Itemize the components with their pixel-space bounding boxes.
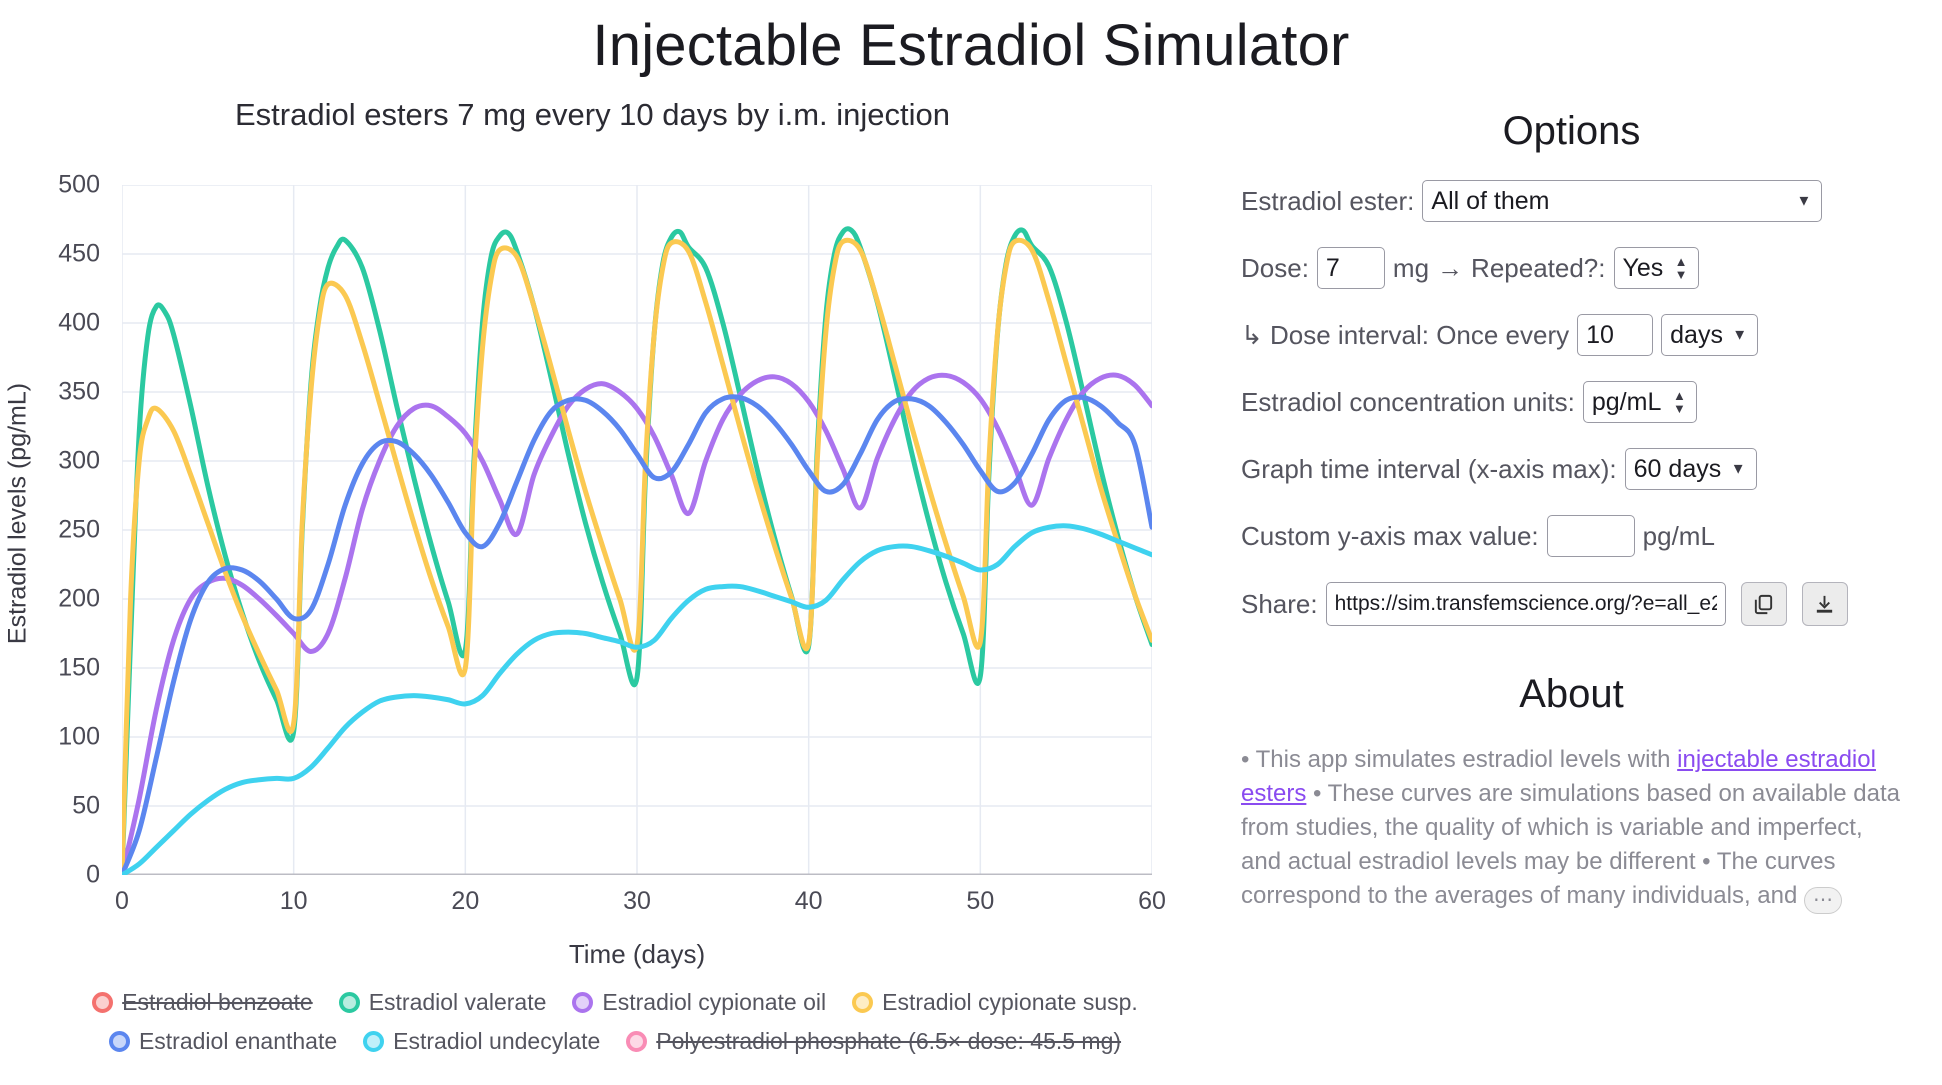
- dose-unit: mg: [1393, 253, 1429, 284]
- interval-label: ↳ Dose interval: Once every: [1241, 320, 1569, 351]
- plot-area: [122, 185, 1152, 875]
- y-tick-label: 500: [0, 171, 110, 200]
- legend-color-swatch: [92, 992, 113, 1013]
- units-select-wrap: pg/mL ▲▼: [1583, 381, 1697, 423]
- concentration-units-select[interactable]: pg/mL: [1583, 381, 1697, 423]
- about-heading: About: [1241, 672, 1902, 717]
- x-tick-label: 50: [966, 887, 994, 916]
- legend-item[interactable]: Estradiol cypionate susp.: [852, 989, 1138, 1016]
- share-label: Share:: [1241, 589, 1318, 620]
- x-tick-label: 20: [451, 887, 479, 916]
- dose-label: Dose:: [1241, 253, 1309, 284]
- x-tick-label: 40: [795, 887, 823, 916]
- custom-ymax-input[interactable]: [1547, 515, 1635, 557]
- legend-item-label: Estradiol valerate: [369, 989, 547, 1016]
- options-heading: Options: [1241, 109, 1902, 154]
- repeated-label: Repeated?:: [1471, 253, 1605, 284]
- y-tick-label: 50: [0, 792, 110, 821]
- y-tick-label: 450: [0, 240, 110, 269]
- y-tick-label: 200: [0, 585, 110, 614]
- legend-color-swatch: [852, 992, 873, 1013]
- y-tick-label: 100: [0, 723, 110, 752]
- legend-item-label: Polyestradiol phosphate (6.5× dose: 45.5…: [656, 1028, 1121, 1055]
- ester-label: Estradiol ester:: [1241, 186, 1414, 217]
- option-row-share: Share:: [1241, 582, 1902, 626]
- legend-color-swatch: [626, 1031, 647, 1052]
- ymax-unit: pg/mL: [1643, 521, 1715, 552]
- option-row-units: Estradiol concentration units: pg/mL ▲▼: [1241, 381, 1902, 423]
- options-panel: Options Estradiol ester: All of them ▼ D…: [1215, 79, 1942, 914]
- legend-item-label: Estradiol enanthate: [139, 1028, 337, 1055]
- legend-item[interactable]: Estradiol undecylate: [363, 1028, 600, 1055]
- legend-color-swatch: [339, 992, 360, 1013]
- legend-item[interactable]: Estradiol valerate: [339, 989, 547, 1016]
- legend-color-swatch: [572, 992, 593, 1013]
- main-layout: Estradiol esters 7 mg every 10 days by i…: [0, 79, 1942, 1064]
- legend-item[interactable]: Estradiol cypionate oil: [572, 989, 826, 1016]
- x-tick-label: 10: [280, 887, 308, 916]
- legend-item-label: Estradiol benzoate: [122, 989, 313, 1016]
- option-row-ester: Estradiol ester: All of them ▼: [1241, 180, 1902, 222]
- y-tick-label: 350: [0, 378, 110, 407]
- y-tick-label: 300: [0, 447, 110, 476]
- x-axis-label: Time (days): [122, 939, 1152, 970]
- interval-unit-select-wrap: days ▼: [1661, 314, 1758, 356]
- option-row-interval: ↳ Dose interval: Once every days ▼: [1241, 314, 1902, 356]
- y-tick-label: 250: [0, 516, 110, 545]
- plot-wrapper: Estradiol levels (pg/mL) 050100150200250…: [0, 139, 1180, 839]
- time-interval-label: Graph time interval (x-axis max):: [1241, 454, 1617, 485]
- copy-icon[interactable]: [1741, 582, 1787, 626]
- option-row-ymax: Custom y-axis max value: pg/mL: [1241, 515, 1902, 557]
- legend-item-label: Estradiol cypionate susp.: [882, 989, 1138, 1016]
- x-tick-label: 30: [623, 887, 651, 916]
- share-url-input[interactable]: [1326, 582, 1726, 626]
- dose-interval-unit-select[interactable]: days: [1661, 314, 1758, 356]
- legend-item[interactable]: Polyestradiol phosphate (6.5× dose: 45.5…: [626, 1028, 1121, 1055]
- chart-svg: [122, 185, 1152, 875]
- legend-item[interactable]: Estradiol enanthate: [109, 1028, 337, 1055]
- y-tick-label: 150: [0, 654, 110, 683]
- x-tick-label: 60: [1138, 887, 1166, 916]
- ymax-label: Custom y-axis max value:: [1241, 521, 1539, 552]
- estradiol-ester-select[interactable]: All of them: [1422, 180, 1822, 222]
- page-title: Injectable Estradiol Simulator: [0, 12, 1942, 79]
- chart-legend: Estradiol benzoateEstradiol valerateEstr…: [60, 989, 1170, 1067]
- legend-item[interactable]: Estradiol benzoate: [92, 989, 313, 1016]
- about-text-part1: • This app simulates estradiol levels wi…: [1241, 746, 1677, 773]
- legend-row: Estradiol enanthateEstradiol undecylateP…: [60, 1028, 1170, 1055]
- dose-input[interactable]: [1317, 247, 1385, 289]
- download-icon[interactable]: [1802, 582, 1848, 626]
- y-tick-label: 400: [0, 309, 110, 338]
- chart-title: Estradiol esters 7 mg every 10 days by i…: [0, 97, 1215, 133]
- arrow-icon: →: [1437, 253, 1463, 284]
- chart-panel: Estradiol esters 7 mg every 10 days by i…: [0, 79, 1215, 839]
- dose-interval-input[interactable]: [1577, 314, 1653, 356]
- graph-time-interval-select[interactable]: 60 days: [1625, 448, 1757, 490]
- legend-item-label: Estradiol cypionate oil: [602, 989, 826, 1016]
- x-tick-label: 0: [115, 887, 129, 916]
- legend-color-swatch: [109, 1031, 130, 1052]
- about-text: • This app simulates estradiol levels wi…: [1241, 743, 1902, 914]
- about-text-part2: • These curves are simulations based on …: [1241, 780, 1900, 909]
- option-row-dose: Dose: mg → Repeated?: Yes ▲▼: [1241, 247, 1902, 289]
- ester-select-wrap: All of them ▼: [1422, 180, 1822, 222]
- show-more-icon[interactable]: ⋯: [1804, 887, 1842, 914]
- y-tick-label: 0: [0, 861, 110, 890]
- legend-item-label: Estradiol undecylate: [393, 1028, 600, 1055]
- time-interval-select-wrap: 60 days ▼: [1625, 448, 1757, 490]
- legend-color-swatch: [363, 1031, 384, 1052]
- units-label: Estradiol concentration units:: [1241, 387, 1575, 418]
- repeated-select[interactable]: Yes: [1614, 247, 1699, 289]
- repeated-select-wrap: Yes ▲▼: [1614, 247, 1699, 289]
- option-row-time-interval: Graph time interval (x-axis max): 60 day…: [1241, 448, 1902, 490]
- legend-row: Estradiol benzoateEstradiol valerateEstr…: [60, 989, 1170, 1016]
